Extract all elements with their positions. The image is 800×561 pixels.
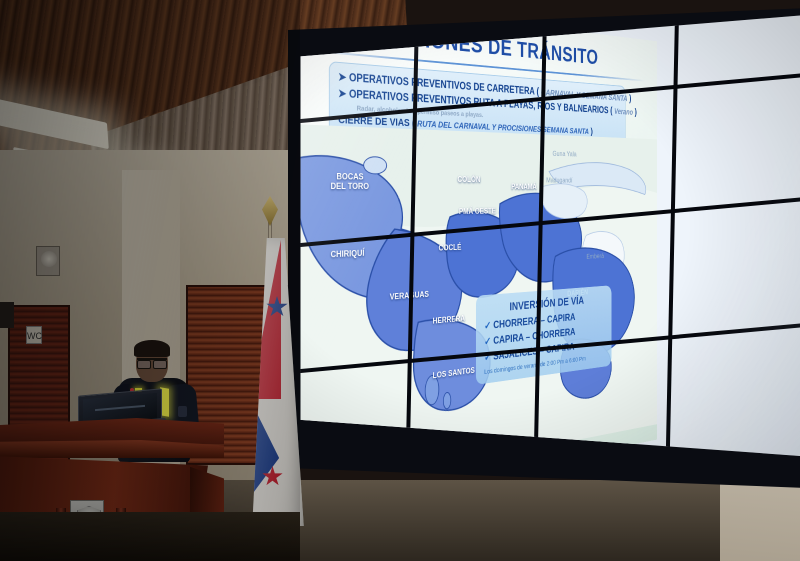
bullet-paren-2: Verano — [614, 107, 633, 117]
presenter-hair — [134, 340, 170, 357]
closure-close: ) — [591, 127, 593, 137]
map-label-embera: Emberá — [586, 252, 603, 260]
video-wall-screen[interactable]: ACCIONES DE TRÁNSITO ➤ OPERATIVOS PREVEN… — [298, 10, 800, 498]
wall-fixture-box — [0, 302, 14, 328]
eyeglasses-icon — [137, 358, 167, 365]
flag-shading — [250, 238, 306, 526]
map-label-chiriqui: CHIRIQUÍ — [331, 249, 365, 260]
map-label-bocas-del-toro: BOCASDEL TORO — [331, 172, 369, 191]
map-island — [364, 157, 387, 174]
check-icon: ✓ — [484, 319, 491, 332]
photo-scene: WC ACCIONES DE TRÁNSITO ➤ OPERATIVOS PRE… — [0, 0, 800, 561]
panama-flag — [238, 196, 314, 526]
map-label-panama-oeste: PMÁ OESTE — [459, 207, 496, 216]
map-island — [443, 392, 450, 409]
check-icon: ✓ — [484, 334, 491, 347]
bullet-marker: ➤ — [338, 72, 346, 84]
check-icon: ✓ — [484, 350, 491, 363]
map-label-madugandi: Madugandí — [546, 177, 572, 185]
flag-cloth — [250, 238, 306, 526]
bullet-close-1: ) — [629, 94, 631, 104]
flag-finial-icon — [262, 196, 278, 226]
bullet-close-2: ) — [635, 108, 637, 117]
map-label-colon: COLÓN — [457, 176, 480, 185]
bullet-marker: ➤ — [338, 88, 346, 100]
map-label-panama: PANAMÁ — [511, 183, 536, 191]
uniform-shoulder-patch — [178, 406, 187, 417]
restroom-sign: WC — [26, 326, 42, 344]
map-label-cocle: COCLÉ — [439, 243, 462, 253]
podium-top-surface — [0, 418, 224, 444]
foreground-shadow-band — [0, 512, 300, 561]
wall-fan-icon — [36, 246, 60, 276]
laptop-screen-glow — [95, 405, 145, 411]
video-wall[interactable]: ACCIONES DE TRÁNSITO ➤ OPERATIVOS PREVEN… — [288, 8, 800, 508]
map-label-guna-yala: Guna Yala — [552, 150, 576, 158]
bezel-vertical — [665, 10, 679, 498]
